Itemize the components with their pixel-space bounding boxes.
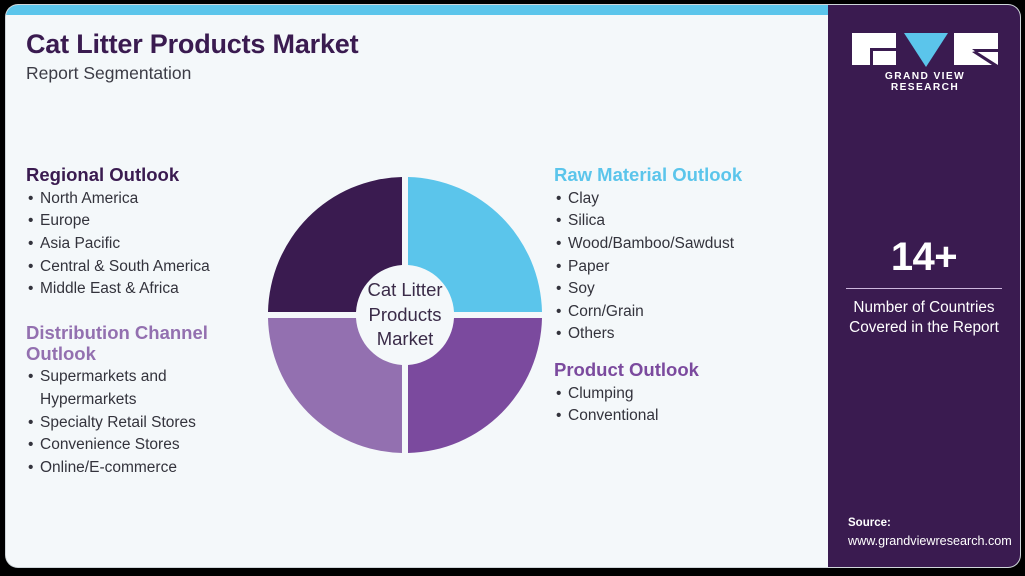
left-column: Regional Outlook North America Europe As…: [26, 165, 271, 479]
list-item: Clay: [554, 188, 819, 211]
stat-block: 14+ Number of Countries Covered in the R…: [842, 237, 1006, 337]
list-item: Wood/Bamboo/Sawdust: [554, 233, 819, 256]
list-product-outlook: Clumping Conventional: [554, 383, 819, 428]
list-item: Asia Pacific: [26, 233, 271, 256]
brand-panel: GRAND VIEW RESEARCH 14+ Number of Countr…: [828, 5, 1020, 567]
stat-value: 14+: [842, 237, 1006, 277]
source-heading: Source:: [848, 516, 1016, 531]
right-column: Raw Material Outlook Clay Silica Wood/Ba…: [554, 165, 819, 428]
spacer: [554, 346, 819, 360]
source-url[interactable]: www.grandviewresearch.com: [848, 533, 1016, 549]
list-item: Conventional: [554, 405, 819, 428]
source-block: Source: www.grandviewresearch.com: [848, 516, 1016, 549]
list-item: Convenience Stores: [26, 434, 271, 457]
spacer: [26, 301, 271, 323]
list-item: Online/E-commerce: [26, 457, 271, 480]
title-block: Cat Litter Products Market Report Segmen…: [26, 29, 666, 84]
list-item: Europe: [26, 210, 271, 233]
grand-view-research-logo: GRAND VIEW RESEARCH: [850, 31, 1000, 87]
donut-chart: Cat Litter Products Market: [264, 173, 546, 457]
page-title: Cat Litter Products Market: [26, 29, 666, 59]
list-item: Middle East & Africa: [26, 278, 271, 301]
top-accent-bar: [6, 5, 828, 15]
list-item: Supermarkets and Hypermarkets: [26, 366, 271, 411]
gvr-monogram-icon: [850, 31, 1000, 67]
main-content-area: Cat Litter Products Market Report Segmen…: [6, 15, 828, 567]
donut-segment-product[interactable]: [408, 318, 542, 453]
list-item: Silica: [554, 210, 819, 233]
stat-label: Number of Countries Covered in the Repor…: [842, 298, 1006, 337]
logo-marks: [850, 31, 1000, 67]
list-item: North America: [26, 188, 271, 211]
list-item: Specialty Retail Stores: [26, 412, 271, 435]
section-heading-raw-material-outlook: Raw Material Outlook: [554, 165, 819, 186]
section-heading-product-outlook: Product Outlook: [554, 360, 819, 381]
list-raw-material-outlook: Clay Silica Wood/Bamboo/Sawdust Paper So…: [554, 188, 819, 346]
page-subtitle: Report Segmentation: [26, 63, 666, 84]
list-regional-outlook: North America Europe Asia Pacific Centra…: [26, 188, 271, 301]
list-item: Others: [554, 323, 819, 346]
list-item: Corn/Grain: [554, 301, 819, 324]
donut-segment-distribution-channel[interactable]: [268, 318, 402, 453]
logo-wordmark: GRAND VIEW RESEARCH: [850, 71, 1000, 93]
stat-divider: [846, 288, 1002, 289]
list-item: Central & South America: [26, 256, 271, 279]
infographic-card: Cat Litter Products Market Report Segmen…: [6, 5, 1020, 567]
section-heading-distribution-channel-outlook: Distribution Channel Outlook: [26, 323, 271, 364]
list-distribution-channel-outlook: Supermarkets and Hypermarkets Specialty …: [26, 366, 271, 479]
donut-segment-raw-material[interactable]: [408, 177, 542, 312]
list-item: Soy: [554, 278, 819, 301]
list-item: Paper: [554, 256, 819, 279]
donut-chart-svg: [264, 173, 546, 457]
donut-segment-regional[interactable]: [268, 177, 402, 312]
section-heading-regional-outlook: Regional Outlook: [26, 165, 271, 186]
list-item: Clumping: [554, 383, 819, 406]
infographic-root: Cat Litter Products Market Report Segmen…: [0, 0, 1025, 576]
